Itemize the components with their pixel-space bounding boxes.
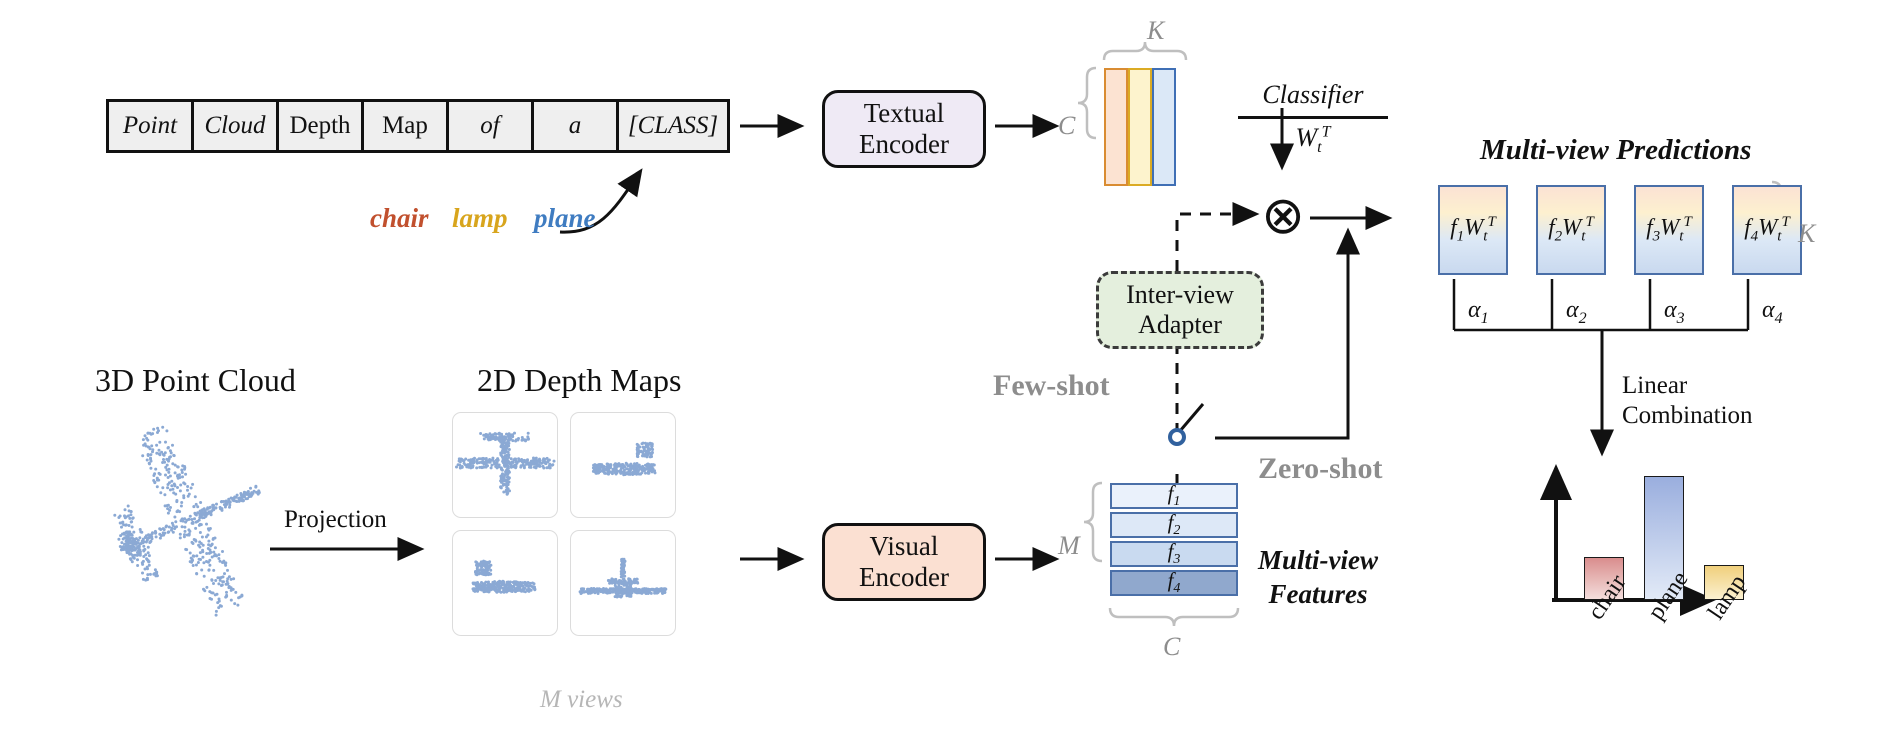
alpha1-sub: 1 [1481,310,1489,327]
prompt-token-1: Cloud [194,102,279,150]
textual-encoder-line2: Encoder [859,129,949,159]
m-views-caption: M views [540,686,623,714]
prediction-boxes: f1WtT f2WtT f3WtT f4WtT [1438,185,1802,275]
class-word-plane: plane [534,203,596,234]
prompt-token-0: Point [109,102,194,150]
classifier-caption: Classifier WtT [1228,80,1398,157]
class-word-chair: chair [370,203,429,234]
pred4-fsub: 4 [1751,229,1759,245]
inter-view-adapter-box[interactable]: Inter-view Adapter [1096,271,1264,349]
pred1-wsup: T [1487,214,1495,230]
pred2-wsub: t [1581,229,1585,245]
pred2-wsup: T [1585,214,1593,230]
alpha3-base: α [1664,297,1677,323]
prompt-token-4: of [449,102,534,150]
brace-features-c [1110,608,1238,626]
brace-classifier-k [1104,42,1186,60]
classifier-brace-k-label: K [1147,16,1164,46]
zero-shot-label: Zero-shot [1258,452,1382,486]
wt-sup: T [1322,123,1331,140]
depth-maps-grid [452,412,674,634]
depth-map-2-scatter [571,413,675,517]
prediction-box-1: f1WtT [1438,185,1508,275]
prompt-token-3: Map [364,102,449,150]
adapter-line1: Inter-view [1126,280,1234,309]
alpha-weight-2: α2 [1566,297,1587,328]
features-brace-m-label: M [1058,531,1080,561]
depth-map-view-4[interactable] [570,530,676,636]
depth-map-view-1[interactable] [452,412,558,518]
brace-classifier-c [1078,68,1096,138]
linear-combination-line2: Combination [1622,401,1753,431]
depth-maps-heading: 2D Depth Maps [477,362,681,399]
projection-label: Projection [284,505,387,535]
depth-map-view-2[interactable] [570,412,676,518]
classifier-matrix [1104,68,1176,186]
features-caption-line2: Features [1258,578,1378,612]
brace-features-m [1084,483,1102,561]
visual-encoder-box[interactable]: Visual Encoder [822,523,986,601]
pred2-w: W [1562,215,1581,240]
arrow-adapter-to-multiply [1177,214,1255,271]
pred4-w: W [1758,215,1777,240]
alpha-weight-4: α4 [1762,297,1783,328]
prompt-token-5: a [534,102,619,150]
classifier-caption-top: Classifier [1228,80,1398,110]
pred2-fsub: 2 [1555,229,1563,245]
alpha2-sub: 2 [1579,310,1587,327]
feat2-sub: 2 [1173,524,1180,539]
alpha-weight-3: α3 [1664,297,1685,328]
classifier-column-chair [1104,68,1128,186]
prediction-box-3: f3WtT [1634,185,1704,275]
few-shot-label: Few-shot [993,369,1110,403]
prompt-token-2: Depth [279,102,364,150]
depth-map-4-scatter [571,531,675,635]
result-bar-chart [1556,470,1726,600]
pred1-fsub: 1 [1457,229,1465,245]
wt-sub: t [1317,139,1321,156]
classifier-column-plane [1152,68,1176,186]
pred3-fsub: 3 [1653,229,1661,245]
figure-canvas: Point Cloud Depth Map of a [CLASS] chair… [0,0,1882,746]
feat3-sub: 3 [1173,553,1180,568]
multi-view-features-caption: Multi-view Features [1258,544,1378,612]
features-brace-c-label: C [1163,632,1180,662]
linear-combination-line1: Linear [1622,371,1753,401]
feature-row-1: f1 [1110,483,1238,509]
classifier-column-lamp [1128,68,1152,186]
feat4-sub: 4 [1173,582,1180,597]
multiply-operator-icon: ⊗ [1255,191,1311,247]
point-cloud-heading: 3D Point Cloud [95,362,296,399]
alpha4-base: α [1762,297,1775,323]
predictions-title: Multi-view Predictions [1480,134,1751,167]
prediction-box-4: f4WtT [1732,185,1802,275]
wt-base: W [1295,123,1317,152]
prompt-token-class: [CLASS] [619,102,727,150]
linear-combination-caption: Linear Combination [1622,371,1753,431]
depth-map-3-scatter [453,531,557,635]
alpha-weight-1: α1 [1468,297,1489,328]
pred4-wsup: T [1781,214,1789,230]
prompt-template: Point Cloud Depth Map of a [CLASS] [106,99,730,153]
point-cloud-scatter [113,426,260,617]
depth-map-view-3[interactable] [452,530,558,636]
textual-encoder-line1: Textual [864,98,945,128]
prediction-box-2: f2WtT [1536,185,1606,275]
feature-row-2: f2 [1110,512,1238,538]
classifier-brace-c-label: C [1058,111,1075,141]
pred3-wsup: T [1683,214,1691,230]
visual-encoder-line2: Encoder [859,562,949,592]
switch-blade [1180,404,1203,431]
predictions-brace-k-label: K [1798,219,1815,249]
feature-row-4: f4 [1110,570,1238,596]
alpha4-sub: 4 [1775,310,1783,327]
classifier-caption-rule [1238,116,1388,119]
class-word-lamp: lamp [452,203,508,234]
adapter-line2: Adapter [1138,310,1222,339]
pred3-wsub: t [1679,229,1683,245]
pred4-wsub: t [1777,229,1781,245]
alpha2-base: α [1566,297,1579,323]
depth-map-1-scatter [453,413,557,517]
alpha1-base: α [1468,297,1481,323]
pred3-w: W [1660,215,1679,240]
pred1-wsub: t [1483,229,1487,245]
feature-row-3: f3 [1110,541,1238,567]
visual-encoder-line1: Visual [870,531,939,561]
textual-encoder-box[interactable]: Textual Encoder [822,90,986,168]
features-caption-line1: Multi-view [1258,544,1378,578]
feat1-sub: 1 [1173,495,1180,510]
multi-view-feature-stack: f1 f2 f3 f4 [1110,483,1238,599]
switch-pivot-icon [1170,430,1184,444]
classifier-caption-bottom: WtT [1228,123,1398,157]
alpha3-sub: 3 [1677,310,1685,327]
pred1-w: W [1464,215,1483,240]
